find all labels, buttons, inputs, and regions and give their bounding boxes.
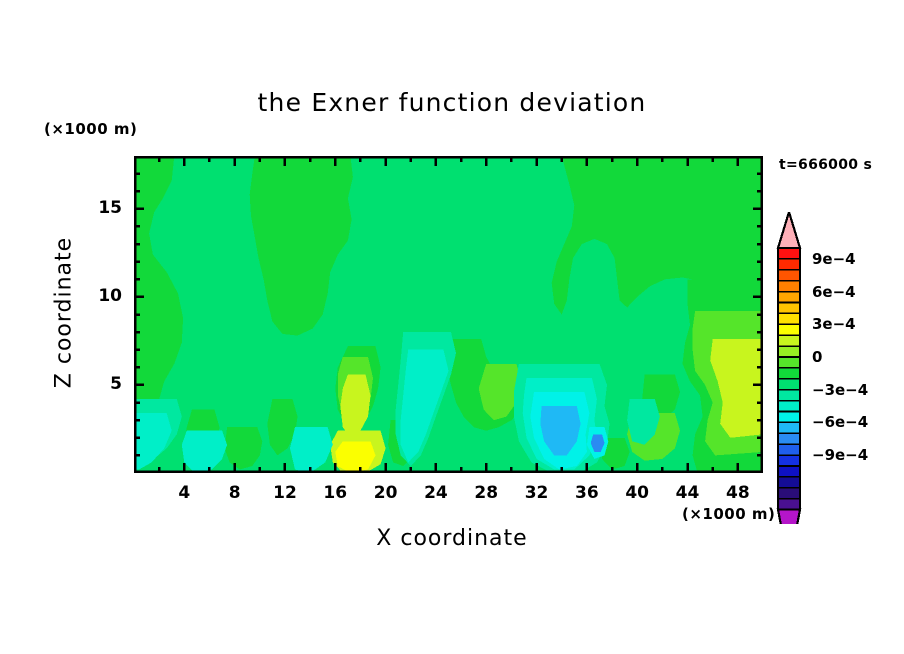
colorbar-band-19	[778, 455, 800, 466]
colorbar-band-7	[778, 324, 800, 335]
y-tick-label-5: 5	[76, 374, 122, 394]
colorbar-band-15	[778, 412, 800, 423]
colorbar-label-4: −3e−4	[812, 381, 868, 399]
colorbar-band-4	[778, 292, 800, 303]
y-axis-unit-label: (×1000 m)	[44, 120, 137, 138]
colorbar-band-11	[778, 368, 800, 379]
x-tick-label-24: 24	[414, 483, 458, 503]
x-tick-label-40: 40	[615, 483, 659, 503]
colorbar-band-23	[778, 499, 800, 510]
x-axis-unit-label: (×1000 m)	[682, 505, 775, 523]
x-tick-label-44: 44	[666, 483, 710, 503]
colorbar-label-2: 3e−4	[812, 315, 856, 333]
colorbar-band-18	[778, 444, 800, 455]
x-tick-label-48: 48	[716, 483, 760, 503]
contour-plot	[134, 156, 763, 473]
colorbar-label-5: −6e−4	[812, 413, 868, 431]
x-tick-label-12: 12	[263, 483, 307, 503]
x-tick-label-28: 28	[464, 483, 508, 503]
colorbar-band-1	[778, 259, 800, 270]
colorbar-overflow-bottom	[778, 510, 800, 524]
colorbar-band-13	[778, 390, 800, 401]
colorbar-band-6	[778, 313, 800, 324]
colorbar-overflow-top	[778, 212, 800, 248]
x-tick-label-4: 4	[162, 483, 206, 503]
colorbar-band-12	[778, 379, 800, 390]
x-tick-label-32: 32	[515, 483, 559, 503]
colorbar-label-1: 6e−4	[812, 283, 856, 301]
colorbar-band-16	[778, 422, 800, 433]
colorbar-band-0	[778, 248, 800, 259]
y-tick-label-15: 15	[76, 198, 122, 218]
timestamp-label: t=666000 s	[779, 157, 872, 173]
colorbar-band-10	[778, 357, 800, 368]
x-tick-label-8: 8	[213, 483, 257, 503]
colorbar-band-3	[778, 281, 800, 292]
x-axis-title: X coordinate	[0, 526, 904, 551]
colorbar-label-3: 0	[812, 348, 822, 366]
colorbar-band-17	[778, 433, 800, 444]
colorbar	[770, 212, 816, 524]
colorbar-band-5	[778, 303, 800, 314]
colorbar-band-20	[778, 466, 800, 477]
colorbar-band-14	[778, 401, 800, 412]
y-tick-label-10: 10	[76, 286, 122, 306]
colorbar-label-6: −9e−4	[812, 446, 868, 464]
x-tick-label-36: 36	[565, 483, 609, 503]
x-tick-label-16: 16	[313, 483, 357, 503]
colorbar-band-2	[778, 270, 800, 281]
colorbar-band-9	[778, 346, 800, 357]
colorbar-band-22	[778, 488, 800, 499]
x-tick-label-20: 20	[364, 483, 408, 503]
y-axis-title: Z coordinate	[52, 203, 77, 423]
colorbar-band-8	[778, 335, 800, 346]
colorbar-label-0: 9e−4	[812, 250, 856, 268]
colorbar-band-21	[778, 477, 800, 488]
page-title: the Exner function deviation	[0, 88, 904, 117]
